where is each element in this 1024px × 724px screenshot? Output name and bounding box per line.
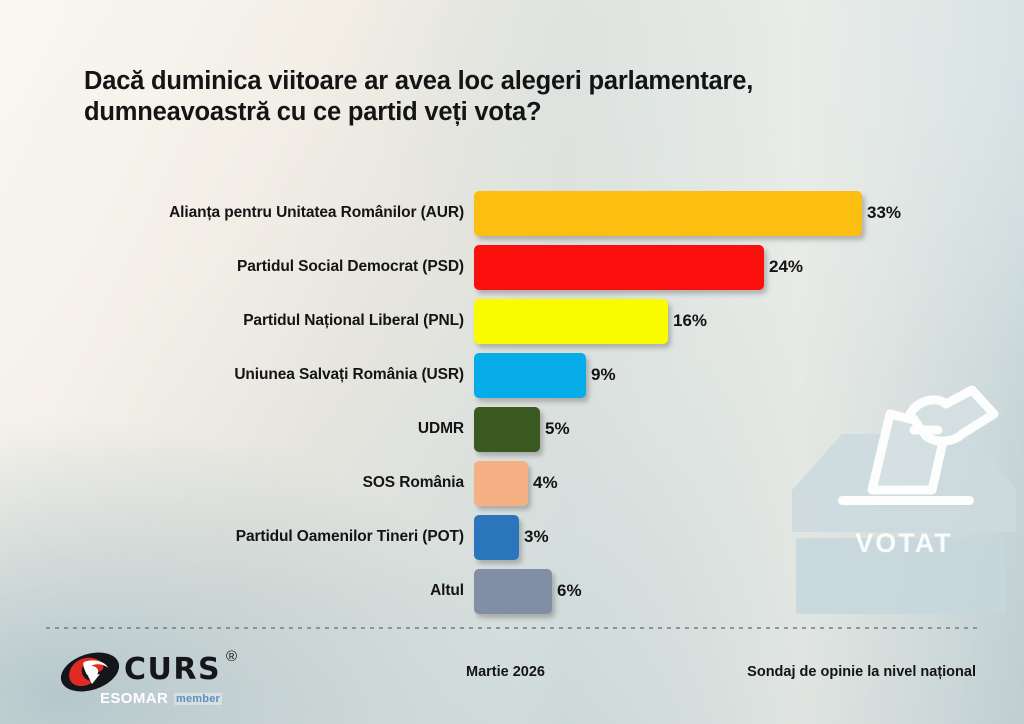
bar-label: UDMR	[0, 420, 474, 438]
table-row: Uniunea Salvați România (USR) 9%	[0, 348, 1024, 402]
bar-label: Altul	[0, 582, 474, 600]
table-row: Alianța pentru Unitatea Românilor (AUR) …	[0, 186, 1024, 240]
survey-scope-note: Sondaj de opinie la nivel național	[747, 664, 976, 680]
bar-value: 9%	[591, 365, 616, 385]
bar-pot[interactable]	[474, 515, 519, 560]
esomar-member-badge: member	[174, 693, 222, 705]
table-row: Partidul Social Democrat (PSD) 24%	[0, 240, 1024, 294]
bar-chart: Alianța pentru Unitatea Românilor (AUR) …	[0, 186, 1024, 618]
curs-logo: CURS ® ESOMAR member	[58, 648, 238, 712]
bar-udmr[interactable]	[474, 407, 540, 452]
page-title-line-2: dumneavoastră cu ce partid veți vota?	[84, 97, 884, 128]
esomar-label: ESOMAR	[100, 690, 168, 707]
bar-group: 16%	[474, 299, 707, 344]
bar-value: 24%	[769, 257, 803, 277]
table-row: Altul 6%	[0, 564, 1024, 618]
bar-value: 5%	[545, 419, 570, 439]
table-row: Partidul Oamenilor Tineri (POT) 3%	[0, 510, 1024, 564]
bar-pnl[interactable]	[474, 299, 668, 344]
poll-infographic: Dacă duminica viitoare ar avea loc alege…	[0, 0, 1024, 724]
bar-sos-romania[interactable]	[474, 461, 528, 506]
bar-group: 9%	[474, 353, 616, 398]
bar-usr[interactable]	[474, 353, 586, 398]
page-title-line-1: Dacă duminica viitoare ar avea loc alege…	[84, 66, 884, 97]
bar-altul[interactable]	[474, 569, 552, 614]
survey-date: Martie 2026	[466, 664, 545, 680]
bar-label: SOS România	[0, 474, 474, 492]
page-title: Dacă duminica viitoare ar avea loc alege…	[84, 66, 884, 128]
bar-label: Partidul Oamenilor Tineri (POT)	[0, 528, 474, 546]
registered-trademark-icon: ®	[226, 648, 237, 665]
bar-group: 3%	[474, 515, 549, 560]
footer-divider	[46, 627, 978, 629]
bar-value: 3%	[524, 527, 549, 547]
bar-group: 6%	[474, 569, 582, 614]
curs-swoosh-icon	[58, 650, 122, 694]
table-row: Partidul Național Liberal (PNL) 16%	[0, 294, 1024, 348]
bar-label: Uniunea Salvați România (USR)	[0, 366, 474, 384]
bar-group: 24%	[474, 245, 803, 290]
bar-group: 5%	[474, 407, 570, 452]
bar-group: 4%	[474, 461, 558, 506]
bar-value: 6%	[557, 581, 582, 601]
table-row: UDMR 5%	[0, 402, 1024, 456]
curs-wordmark: CURS	[124, 652, 221, 687]
bar-value: 16%	[673, 311, 707, 331]
bar-value: 4%	[533, 473, 558, 493]
bar-value: 33%	[867, 203, 901, 223]
bar-psd[interactable]	[474, 245, 764, 290]
bar-label: Alianța pentru Unitatea Românilor (AUR)	[0, 204, 474, 222]
bar-group: 33%	[474, 191, 901, 236]
table-row: SOS România 4%	[0, 456, 1024, 510]
bar-label: Partidul Național Liberal (PNL)	[0, 312, 474, 330]
bar-label: Partidul Social Democrat (PSD)	[0, 258, 474, 276]
bar-aur[interactable]	[474, 191, 862, 236]
